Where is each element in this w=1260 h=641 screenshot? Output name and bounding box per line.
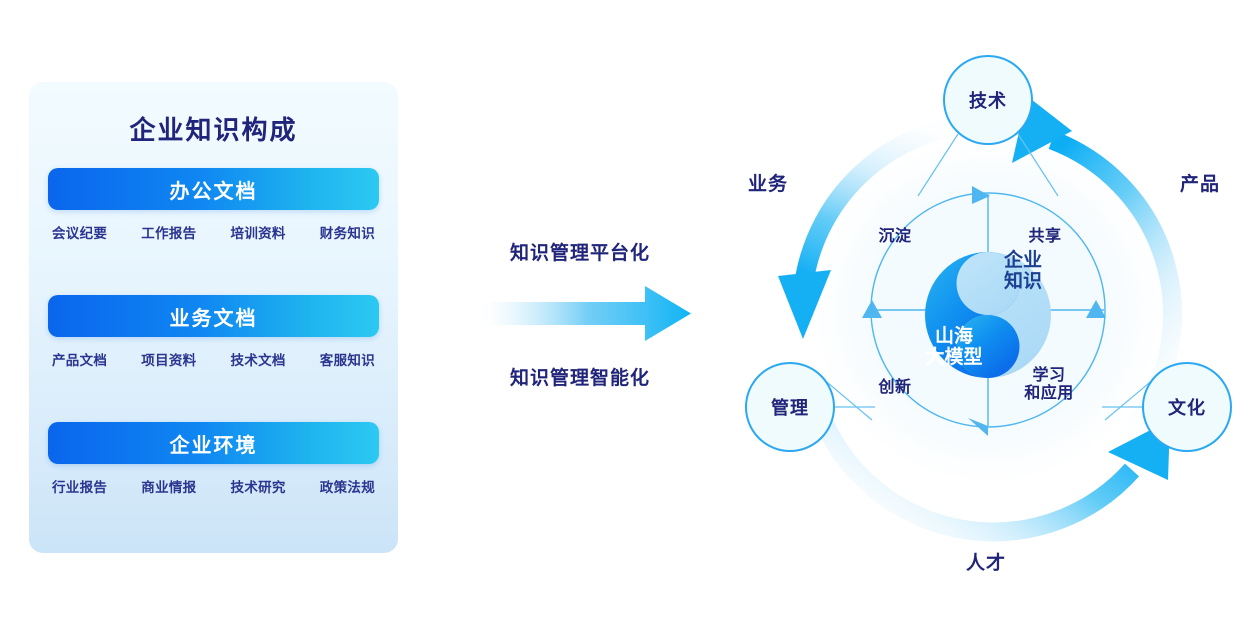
- group-tag-list: 行业报告 商业情报 技术研究 政策法规: [48, 476, 379, 496]
- node-tech[interactable]: 技术: [943, 55, 1033, 145]
- node-culture[interactable]: 文化: [1142, 362, 1232, 452]
- node-label: 文化: [1168, 394, 1206, 420]
- node-label: 技术: [969, 87, 1007, 113]
- quadrant-label-learn-apply: 学习 和应用: [1018, 367, 1080, 404]
- knowledge-cycle-diagram: 技术 管理 文化 业务 产品 人才 沉淀 共享 创新 学习 和应用 企业 知识 …: [700, 0, 1260, 641]
- quadrant-label-precipitate: 沉淀: [870, 228, 920, 246]
- node-label: 管理: [771, 394, 809, 420]
- outer-label-product: 产品: [1180, 169, 1220, 196]
- group-heading-pill[interactable]: 企业环境: [48, 422, 379, 464]
- tag-item: 技术研究: [231, 476, 286, 496]
- group-heading-label: 企业环境: [170, 429, 258, 458]
- page-title: 企业知识构成: [29, 110, 398, 147]
- tag-item: 政策法规: [320, 476, 375, 496]
- group-tag-list: 会议纪要 工作报告 培训资料 财务知识: [48, 222, 379, 242]
- tag-item: 财务知识: [320, 222, 375, 242]
- diagram-canvas: 企业知识构成 办公文档 会议纪要 工作报告 培训资料 财务知识 业务文档 产品文…: [0, 0, 1260, 641]
- quadrant-label-share: 共享: [1020, 228, 1070, 246]
- tag-item: 技术文档: [231, 349, 286, 369]
- enterprise-knowledge-panel: 企业知识构成 办公文档 会议纪要 工作报告 培训资料 财务知识 业务文档 产品文…: [29, 82, 398, 553]
- group-heading-pill[interactable]: 业务文档: [48, 295, 379, 337]
- tag-item: 培训资料: [231, 222, 286, 242]
- knowledge-group-office: 办公文档 会议纪要 工作报告 培训资料 财务知识: [48, 168, 379, 242]
- group-tag-list: 产品文档 项目资料 技术文档 客服知识: [48, 349, 379, 369]
- tag-item: 产品文档: [52, 349, 107, 369]
- group-heading-label: 业务文档: [170, 302, 258, 331]
- outer-label-business: 业务: [748, 169, 788, 196]
- tag-item: 行业报告: [52, 476, 107, 496]
- tag-item: 商业情报: [141, 476, 196, 496]
- center-label-enterprise-knowledge: 企业 知识: [988, 250, 1058, 293]
- transition-arrow-block: 知识管理平台化 知识管理智能化: [455, 220, 705, 410]
- tag-item: 会议纪要: [52, 222, 107, 242]
- node-management[interactable]: 管理: [745, 362, 835, 452]
- group-heading-label: 办公文档: [170, 175, 258, 204]
- tag-item: 客服知识: [320, 349, 375, 369]
- tag-item: 项目资料: [141, 349, 196, 369]
- knowledge-group-environment: 企业环境 行业报告 商业情报 技术研究 政策法规: [48, 422, 379, 496]
- intelligence-label: 知识管理智能化: [455, 363, 705, 390]
- outer-label-talent: 人才: [966, 548, 1006, 575]
- quadrant-label-innovate: 创新: [870, 379, 920, 397]
- center-label-shanhai-model: 山海 大模型: [912, 326, 996, 369]
- group-heading-pill[interactable]: 办公文档: [48, 168, 379, 210]
- knowledge-group-business: 业务文档 产品文档 项目资料 技术文档 客服知识: [48, 295, 379, 369]
- tag-item: 工作报告: [141, 222, 196, 242]
